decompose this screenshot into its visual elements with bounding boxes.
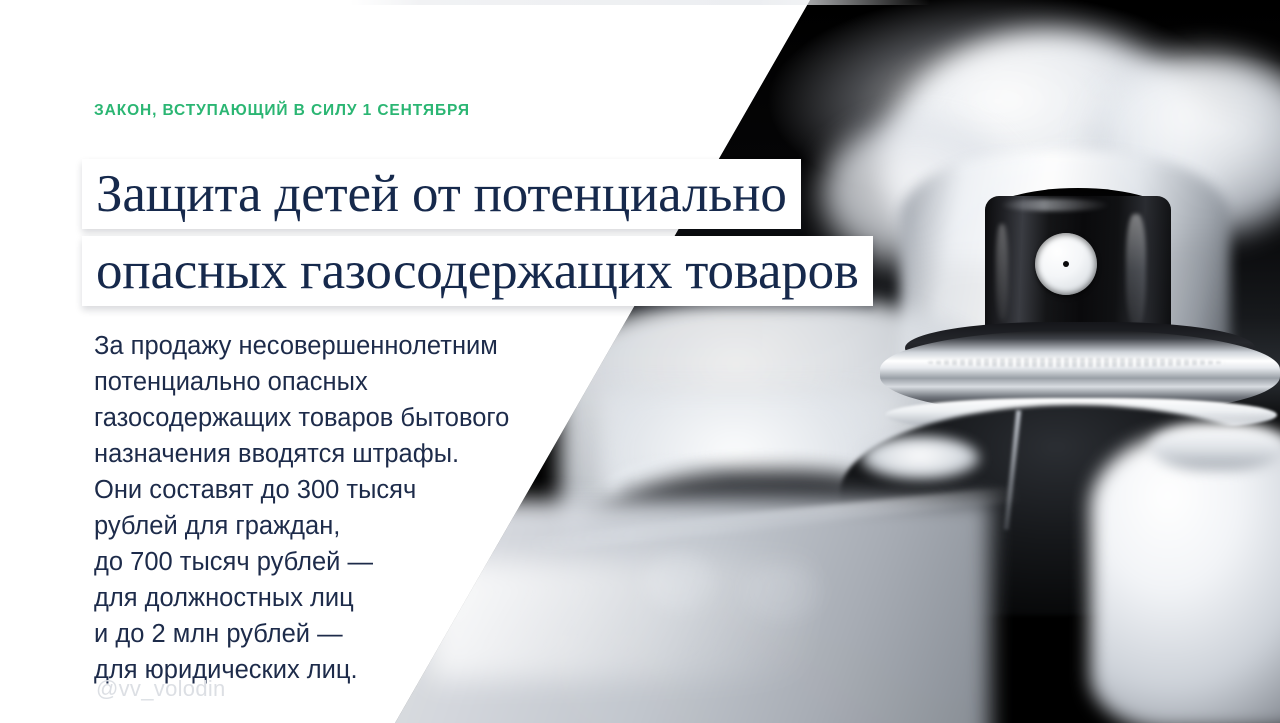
nozzle-spray-hole — [1063, 261, 1069, 267]
nozzle-cap-gloss-right — [1126, 214, 1146, 326]
title-band-line-2: опасных газосодержащих товаров — [82, 236, 873, 306]
bokeh-highlight-3 — [860, 436, 980, 480]
nozzle-cap-lip-highlight — [1000, 199, 1110, 211]
eyebrow-label: ЗАКОН, ВСТУПАЮЩИЙ В СИЛУ 1 СЕНТЯБРЯ — [94, 102, 470, 120]
title-band-line-1: Защита детей от потенциально — [82, 159, 801, 229]
page-title-line-1: Защита детей от потенциально — [96, 168, 787, 221]
page-title-line-2: опасных газосодержащих товаров — [96, 245, 859, 298]
body-paragraph: За продажу несовершеннолетним потенциаль… — [94, 328, 614, 688]
foreground-white-can-collar — [1150, 424, 1280, 470]
chrome-ring-sparkle — [925, 358, 1225, 367]
infographic-card: ЗАКОН, ВСТУПАЮЩИЙ В СИЛУ 1 СЕНТЯБРЯ Защи… — [0, 0, 1280, 723]
top-grey-strip — [350, 0, 930, 5]
nozzle-cap-gloss-left — [996, 224, 1008, 320]
author-watermark: @vv_volodin — [96, 676, 226, 702]
foreground-white-can — [1090, 430, 1280, 723]
